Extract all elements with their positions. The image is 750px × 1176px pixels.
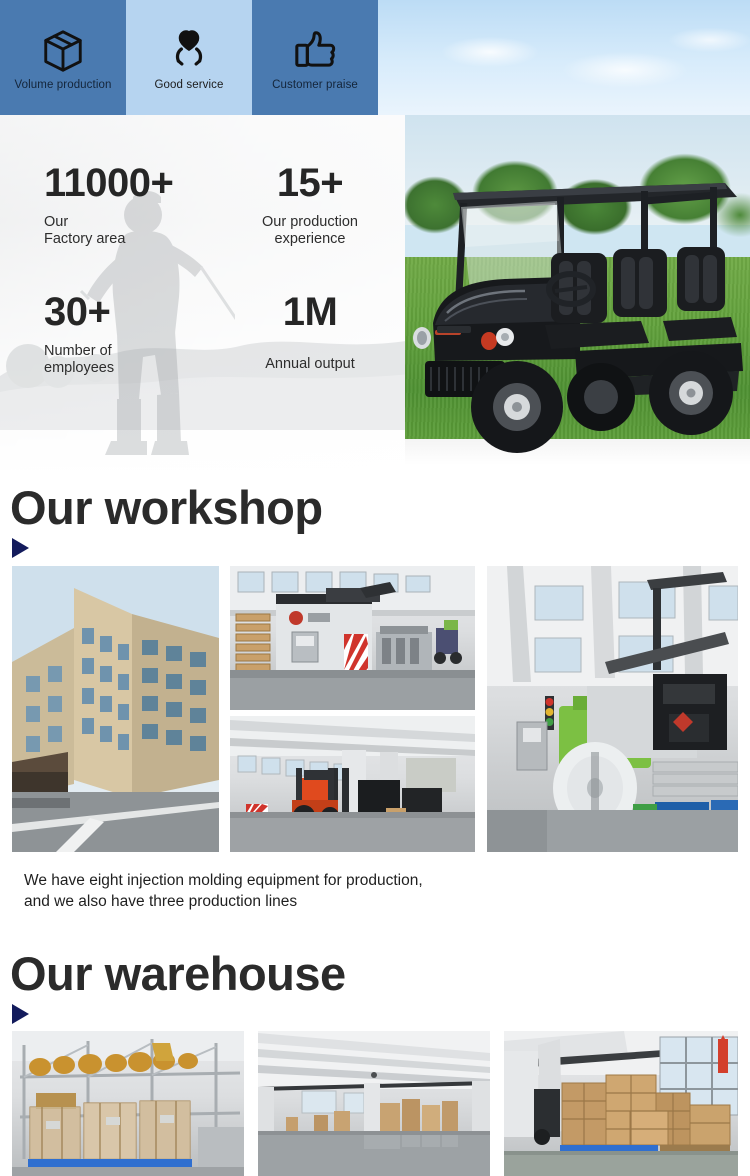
feature-tile-label: Customer praise: [272, 79, 358, 92]
feature-banner: Volume production Good service: [0, 0, 750, 115]
warehouse-heading: Our warehouse: [10, 948, 346, 1000]
workshop-photo-molding-machine[interactable]: [230, 566, 475, 710]
product-photo-golf-cart: [405, 115, 750, 465]
stat-annual-output: 1M Annual output: [230, 290, 390, 373]
stats-grid: 11000+ Our Factory area 15+ Our producti…: [0, 115, 412, 470]
feature-tile-label: Volume production: [15, 79, 112, 92]
feature-tile-volume-production[interactable]: Volume production: [0, 0, 126, 115]
stat-label: Our Factory area: [44, 214, 173, 248]
workshop-photo-production-line[interactable]: [487, 566, 738, 852]
stat-production-experience: 15+ Our production experience: [230, 161, 390, 248]
workshop-caption: We have eight injection molding equipmen…: [24, 870, 624, 912]
play-triangle-icon: [12, 538, 29, 558]
box-icon: [40, 27, 86, 75]
feature-tile-customer-praise[interactable]: Customer praise: [252, 0, 378, 115]
feature-tiles: Volume production Good service: [0, 0, 378, 115]
sky-background: [410, 0, 750, 115]
feature-tile-label: Good service: [155, 79, 224, 92]
warehouse-photo-stacked-cartons[interactable]: [504, 1031, 738, 1176]
stat-value: 30+: [44, 290, 114, 334]
workshop-photo-forklift[interactable]: [230, 716, 475, 852]
workshop-photo-building[interactable]: [12, 566, 219, 852]
stat-label: Our production experience: [230, 214, 390, 248]
workshop-heading: Our workshop: [10, 482, 323, 534]
feature-tile-good-service[interactable]: Good service: [126, 0, 252, 115]
stat-factory-area: 11000+ Our Factory area: [44, 161, 173, 248]
stat-label: Annual output: [230, 356, 390, 373]
stat-value: 11000+: [44, 161, 173, 205]
warehouse-photo-racked-pallets[interactable]: [12, 1031, 244, 1176]
golf-cart-illustration: [405, 145, 750, 455]
play-triangle-icon: [12, 1004, 29, 1024]
stat-employees: 30+ Number of employees: [44, 290, 114, 377]
warehouse-photo-open-floor[interactable]: [258, 1031, 490, 1176]
company-showcase: 11000+ Our Factory area 15+ Our producti…: [0, 115, 750, 470]
stat-value: 15+: [230, 161, 390, 205]
stat-value: 1M: [230, 290, 390, 334]
heart-hands-icon: [165, 27, 213, 75]
stat-label: Number of employees: [44, 343, 114, 377]
stats-panel: 11000+ Our Factory area 15+ Our producti…: [0, 115, 412, 470]
thumbs-up-icon: [291, 27, 339, 75]
